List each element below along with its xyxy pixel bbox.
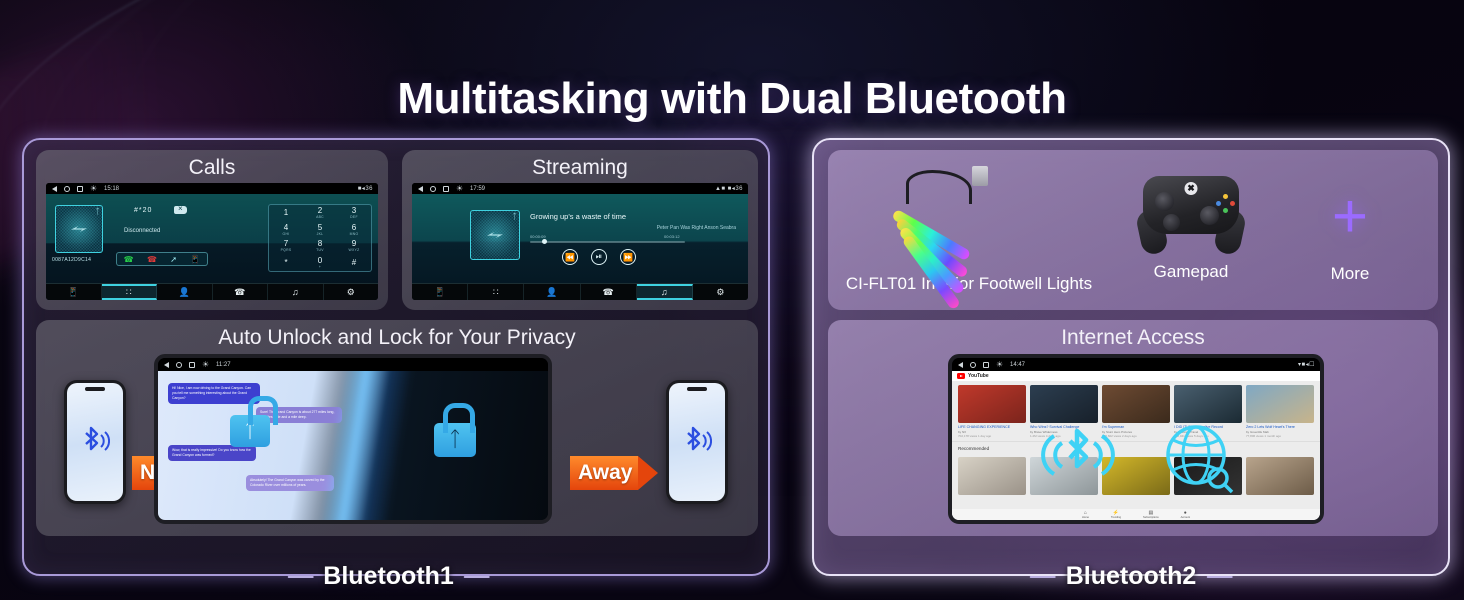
keypad-key-2[interactable]: 2ABC [303,205,337,222]
call-transfer-icon[interactable]: ➚ [170,255,177,264]
track-subtitle: Peter Pan Was Right Anson Seabra [657,225,736,231]
a-button [1223,208,1228,213]
away-label: Away [570,456,638,490]
brightness-icon[interactable]: ☀ [456,185,463,192]
keypad-letters: WXYZ [349,248,360,252]
video-thumbnail [1102,385,1170,423]
keypad-letters: DEF [350,215,358,219]
bluetooth1-label: Bluetooth1 [323,562,454,591]
back-icon[interactable] [958,362,963,368]
unlock-status-bar: ☀ 11:27 [158,358,548,371]
tab-call-history-icon[interactable]: ☎ [213,284,269,300]
keypad-digit: 9 [352,240,356,248]
card-calls: Calls ☀ 15:18 ■◂36 ᛏ 0087A12D9C14 #* [36,150,388,310]
bluetooth-waves-icon [1030,423,1122,495]
accessory-footwell-lights[interactable]: CI-FLT01 Interior Footwell Lights [844,164,1094,294]
backspace-icon[interactable] [174,206,187,214]
youtube-header: YouTube [952,371,1320,381]
streaming-status-bar: ☀ 17:59 ▲■ ■◂36 [412,183,748,194]
internet-status-time: 14:47 [1010,362,1025,368]
recents-icon[interactable] [77,186,83,192]
card-internet-title: Internet Access [828,326,1438,350]
tab-call-history-icon[interactable]: ☎ [581,284,637,300]
tab-bt-device-icon[interactable]: 📱 [412,284,468,300]
bluetooth2-label: Bluetooth2 [1066,562,1197,591]
bt-album-art: ᛏ [55,205,103,253]
panel-bluetooth1: Calls ☀ 15:18 ■◂36 ᛏ 0087A12D9C14 #* [22,138,770,576]
game-controller-icon: ✖ [1137,162,1245,256]
recents-icon[interactable] [983,362,989,368]
keypad-digit: 4 [284,224,288,232]
chat-bubble: Hi! Nice, I am now driving to the Grand … [168,383,260,404]
chat-bubble: Absolutely! The Grand Canyon was carved … [246,475,334,491]
phone-near [64,380,126,504]
bluetooth-icon: ᛏ [512,212,517,221]
keypad-digit: * [284,259,287,267]
tab-settings-icon[interactable]: ⚙ [693,284,748,300]
globe-link-icon [1160,421,1236,497]
video-thumbnail [958,457,1026,495]
padlock-open-bluetooth-icon: ᛏ [230,415,270,447]
keypad-digit: 0 [318,257,322,265]
head-unit-calls-screen[interactable]: ☀ 15:18 ■◂36 ᛏ 0087A12D9C14 #*20 Disconn… [46,183,378,300]
brightness-icon[interactable]: ☀ [996,361,1003,368]
keypad-digit: 7 [284,240,288,248]
keypad-letters: ABC [316,215,324,219]
bt-album-art: ᛏ [470,210,520,260]
video-meta: 77,806 views 1 month ago [1246,434,1314,438]
youtube-nav-home[interactable]: ⌂Home [1082,510,1089,519]
dialed-number: #*20 [134,207,152,214]
card-auto-unlock: Auto Unlock and Lock for Your Privacy Ne… [36,320,758,536]
video-grid-row[interactable]: LIFE CHANGING EXPERIENCEby NX702,178 vie… [952,381,1320,438]
label-dash [287,576,313,578]
accessory-gamepad[interactable]: ✖ Gamepad [1116,162,1266,282]
keypad-key-9[interactable]: 9WXYZ [337,238,371,255]
keypad-digit: # [352,259,356,267]
app-name: YouTube [968,373,989,379]
phone-notch [687,387,707,391]
bluetooth-waves-icon [80,422,110,462]
back-icon[interactable] [164,362,169,368]
keypad-digit: 1 [284,209,288,217]
keypad-key-6[interactable]: 6MNO [337,222,371,239]
phone-notch [85,387,105,391]
home-icon[interactable] [970,362,976,368]
card-accessories: CI-FLT01 Interior Footwell Lights ✖ [828,150,1438,310]
rgb-footwell-light-strips-icon [876,164,1062,268]
youtube-logo-icon [957,373,965,379]
y-button [1223,194,1228,199]
call-answer-icon[interactable]: ☎ [124,255,134,264]
video-thumbnail [1030,385,1098,423]
tab-bt-device-icon[interactable]: 📱 [46,284,102,300]
video-card[interactable]: LIFE CHANGING EXPERIENCEby NX702,178 vie… [958,385,1026,438]
unlock-status-time: 11:27 [216,362,231,368]
recents-icon[interactable] [443,186,449,192]
video-thumbnail [1174,385,1242,423]
keypad-key-7[interactable]: 7PQRS [269,238,303,255]
keypad-key-*[interactable]: * [269,255,303,272]
video-card[interactable] [1246,457,1314,495]
accessory-more[interactable]: + More [1280,176,1420,284]
tab-music-icon[interactable]: ♫ [637,284,693,300]
accessory-label: CI-FLT01 Interior Footwell Lights [844,274,1094,294]
call-phone-switch-icon[interactable]: 📱 [190,255,200,264]
cable [906,170,972,204]
away-arrow-badge: Away [570,456,658,490]
label-dash [1030,576,1056,578]
home-icon[interactable] [176,362,182,368]
youtube-nav-account[interactable]: ●Account [1181,510,1190,519]
tab-keypad-icon[interactable]: ∷ [468,284,524,300]
card-streaming-title: Streaming [402,156,758,180]
call-action-bar: ☎ ☎ ➚ 📱 [116,252,208,266]
brightness-icon[interactable]: ☀ [90,185,97,192]
recents-icon[interactable] [189,362,195,368]
play-pause-icon[interactable]: ⏯ [591,249,607,265]
streaming-tab-bar[interactable]: 📱∷👤☎♫⚙ [412,283,748,300]
youtube-nav-label: Home [1082,516,1089,519]
arrow-head [638,456,658,490]
youtube-nav-label: Trending [1111,516,1121,519]
video-card[interactable] [958,457,1026,495]
label-dash [1206,576,1232,578]
left-stick [1155,192,1174,211]
tab-settings-icon[interactable]: ⚙ [324,284,379,300]
previous-track-icon[interactable]: ⏪ [562,249,578,265]
keypad-digit: 8 [318,240,322,248]
bluetooth-icon: ᛏ [95,207,100,216]
keypad-digit: 2 [318,207,322,215]
keypad-letters: + [319,265,321,269]
head-unit-internet-screen[interactable]: ☀ 14:47 ▾■◂☐ YouTube LIFE CHANGING EXPER… [948,354,1324,524]
recommended-label: Recommended [952,441,1320,453]
streaming-status-time: 17:59 [470,186,485,192]
calls-status-icons: ■◂36 [358,185,373,192]
infographic-root: Multitasking with Dual Bluetooth Calls ☀… [0,0,1464,600]
keypad-key-0[interactable]: 0+ [303,255,337,272]
card-auto-unlock-title: Auto Unlock and Lock for Your Privacy [36,326,758,350]
panel-right-label: Bluetooth2 [1030,562,1233,591]
keypad-digit: 6 [352,224,356,232]
plug [972,166,988,186]
home-icon[interactable] [64,186,70,192]
progress-slider[interactable] [530,241,685,243]
call-end-icon[interactable]: ☎ [147,255,157,264]
video-thumbnail [1246,457,1314,495]
label-dash [464,576,490,578]
controller-body: ✖ [1143,176,1239,234]
youtube-nav-subscriptions[interactable]: ▤Subscriptions [1143,510,1159,519]
keypad-letters: PQRS [281,248,292,252]
plus-icon: + [1332,186,1368,248]
chat-bubble: Wow, that is really impressive! Do you k… [168,445,256,461]
accessory-label: More [1280,264,1420,284]
video-thumbnail [1246,385,1314,423]
keypad-key-8[interactable]: 8TUV [303,238,337,255]
calls-tab-bar[interactable]: 📱∷👤☎♫⚙ [46,283,378,300]
home-icon[interactable] [430,186,436,192]
head-unit-streaming-screen[interactable]: ☀ 17:59 ▲■ ■◂36 ᛏ Growing up's a waste o… [412,183,748,300]
keypad-letters: GHI [283,232,290,236]
youtube-nav-label: Subscriptions [1143,516,1159,519]
keypad-key-5[interactable]: 5JKL [303,222,337,239]
accessory-label: Gamepad [1116,262,1266,282]
brightness-icon[interactable]: ☀ [202,361,209,368]
phone-away [666,380,728,504]
panel-bluetooth2: CI-FLT01 Interior Footwell Lights ✖ [812,138,1450,576]
calls-status-time: 15:18 [104,186,119,192]
device-mac-address: 0087A12D9C14 [52,257,91,263]
next-track-icon[interactable]: ⏩ [620,249,636,265]
brand-logo [487,232,503,238]
keypad-key-3[interactable]: 3DEF [337,205,371,222]
bluetooth-waves-icon [682,422,712,462]
page-title: Multitasking with Dual Bluetooth [0,74,1464,124]
brand-logo [71,226,87,232]
internet-status-bar: ☀ 14:47 ▾■◂☐ [952,358,1320,371]
track-title: Growing up's a waste of time [530,212,626,221]
youtube-bottom-nav[interactable]: ⌂Home⚡Trending▤Subscriptions●Account [952,509,1320,520]
card-streaming: Streaming ☀ 17:59 ▲■ ■◂36 ᛏ Growing up's… [402,150,758,310]
keypad-digit: 3 [352,207,356,215]
youtube-nav-label: Account [1181,516,1190,519]
dpad [1163,214,1180,231]
keypad-key-4[interactable]: 4GHI [269,222,303,239]
calls-status-bar: ☀ 15:18 ■◂36 [46,183,378,194]
video-card[interactable]: Zero 2 Lets Wolf Heart's Thereby Greenli… [1246,385,1314,438]
dialer-keypad[interactable]: 12ABC3DEF4GHI5JKL6MNO7PQRS8TUV9WXYZ*0+# [268,204,372,272]
keypad-letters: MNO [350,232,359,236]
tab-contacts-icon[interactable]: 👤 [524,284,580,300]
back-icon[interactable] [418,186,423,192]
keypad-key-1[interactable]: 1 [269,205,303,222]
light-beam [313,371,417,520]
video-meta: 702,178 views 1 day ago [958,434,1026,438]
connection-state: Disconnected [124,228,160,234]
internet-status-icons: ▾■◂☐ [1298,361,1315,368]
streaming-status-icons: ▲■ ■◂36 [715,185,743,192]
tab-contacts-icon[interactable]: 👤 [157,284,213,300]
keypad-digit: 5 [318,224,322,232]
keypad-key-#[interactable]: # [337,255,371,272]
tab-keypad-icon[interactable]: ∷ [102,284,158,300]
card-internet-access: Internet Access ☀ 14:47 ▾■◂☐ YouTube LIF… [828,320,1438,536]
video-thumbnail [958,385,1026,423]
tab-music-icon[interactable]: ♫ [268,284,324,300]
playback-controls[interactable]: ⏪ ⏯ ⏩ [562,249,636,265]
keypad-letters: JKL [317,232,324,236]
back-icon[interactable] [52,186,57,192]
padlock-closed-bluetooth-icon: ᛏ [434,423,476,457]
b-button [1230,201,1235,206]
head-unit-unlock-screen[interactable]: ☀ 11:27 Hi! Nice, I am now driving to th… [154,354,552,524]
youtube-nav-trending[interactable]: ⚡Trending [1111,510,1121,519]
video-grid-row[interactable] [952,453,1320,495]
keypad-letters: TUV [316,248,324,252]
x-button [1216,201,1221,206]
right-stick [1200,206,1219,225]
xbox-button: ✖ [1185,182,1198,195]
card-calls-title: Calls [36,156,388,180]
progress-total: 00:03:12 [664,234,680,239]
panel-left-label: Bluetooth1 [287,562,490,591]
